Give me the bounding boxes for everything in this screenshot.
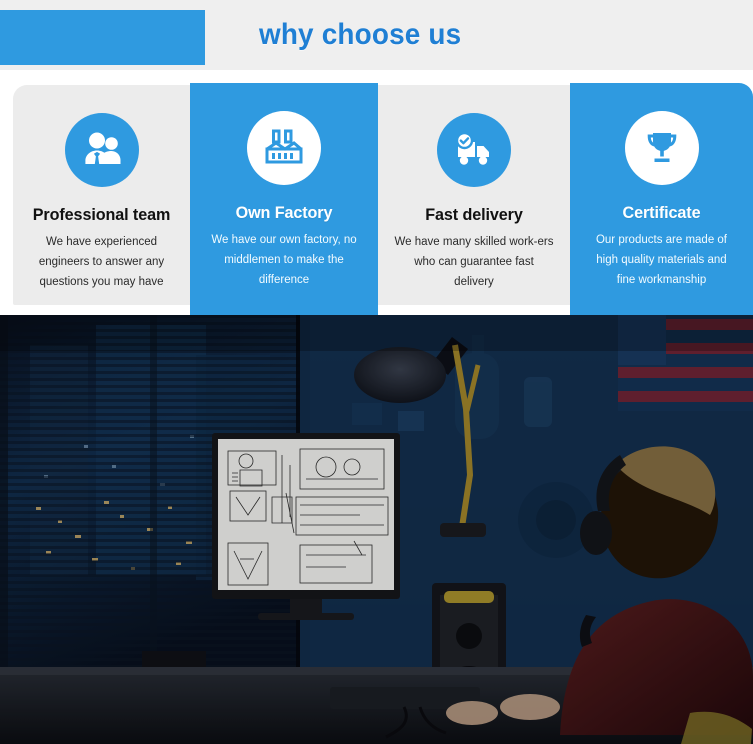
why-choose-us-page: why choose us Professional team We have … [0, 0, 753, 744]
card-description: We have many skilled work-ers who can gu… [388, 232, 560, 292]
card-title: Fast delivery [392, 206, 555, 223]
header-accent-block [0, 10, 205, 65]
card-description: Our products are made of high quality ma… [580, 230, 743, 290]
feature-card-own-factory[interactable]: Own Factory We have our own factory, no … [190, 83, 378, 323]
page-title: why choose us [205, 0, 715, 70]
page-header: why choose us [0, 0, 753, 70]
factory-icon [247, 111, 321, 185]
feature-card-certificate[interactable]: Certificate Our products are made of hig… [570, 83, 753, 323]
card-title: Professional team [27, 206, 176, 223]
card-title: Certificate [584, 204, 739, 221]
feature-card-professional-team[interactable]: Professional team We have experienced en… [13, 85, 190, 305]
card-title: Own Factory [204, 204, 364, 221]
workstation-photo: We have professional technical staff and… [0, 315, 753, 744]
trophy-icon [625, 111, 699, 185]
card-description: We have our own factory, no middlemen to… [200, 230, 368, 290]
card-description: We have experienced engineers to answer … [23, 232, 180, 292]
feature-card-fast-delivery[interactable]: Fast delivery We have many skilled work-… [378, 85, 570, 305]
two-people-icon [65, 113, 139, 187]
feature-cards: Professional team We have experienced en… [0, 70, 753, 315]
delivery-truck-icon [437, 113, 511, 187]
